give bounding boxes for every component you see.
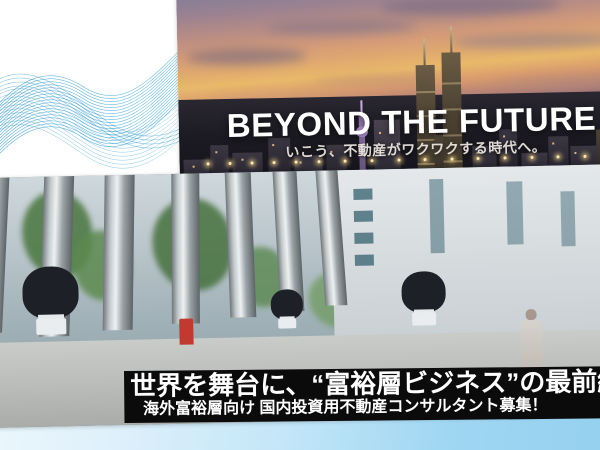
red-postbox — [179, 318, 194, 344]
column — [171, 173, 200, 324]
caption-headline: 世界を舞台に、“富裕層ビジネス”の最前線へ — [130, 367, 600, 400]
businessman-front-left — [0, 265, 112, 427]
column — [224, 172, 256, 317]
recruitment-banner: BEYOND THE FUTURE いこう、不動産がワクワクする時代へ。 — [0, 0, 600, 450]
